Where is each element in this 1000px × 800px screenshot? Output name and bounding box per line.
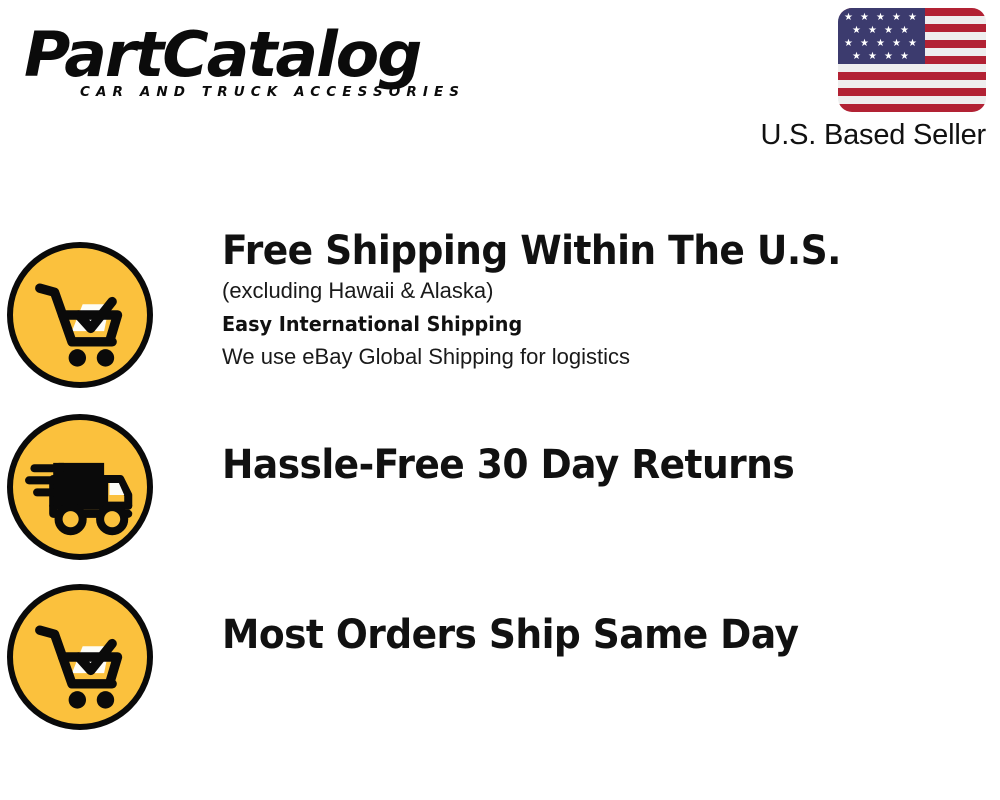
feature-secondary-title: Easy International Shipping xyxy=(222,308,969,340)
feature-icon-wrapper xyxy=(0,228,160,388)
us-based-seller-badge: ★ ★ ★ ★ ★ ★ ★ ★ ★ ★ ★ ★ ★ ★ ★ ★ ★ ★ U.S.… xyxy=(696,8,986,152)
feature-subtitle: (excluding Hawaii & Alaska) xyxy=(222,274,1000,308)
feature-row: Free Shipping Within The U.S. (excluding… xyxy=(0,228,1000,388)
feature-title: Free Shipping Within The U.S. xyxy=(222,228,953,274)
feature-secondary-subtitle: We use eBay Global Shipping for logistic… xyxy=(222,340,1000,374)
shopping-cart-check-icon xyxy=(7,584,153,730)
delivery-truck-icon xyxy=(7,414,153,560)
feature-title: Hassle-Free 30 Day Returns xyxy=(222,442,953,488)
feature-icon-wrapper xyxy=(0,570,160,730)
feature-title: Most Orders Ship Same Day xyxy=(222,612,953,658)
brand-logo[interactable]: PartCatalog CAR AND TRUCK ACCESSORIES xyxy=(24,22,494,100)
shopping-cart-check-icon xyxy=(7,242,153,388)
feature-text-block: Most Orders Ship Same Day xyxy=(160,570,1000,658)
flag-canton: ★ ★ ★ ★ ★ ★ ★ ★ ★ ★ ★ ★ ★ ★ ★ ★ ★ ★ xyxy=(838,8,925,64)
feature-text-block: Hassle-Free 30 Day Returns xyxy=(160,400,1000,488)
us-based-seller-label: U.S. Based Seller xyxy=(696,119,986,152)
feature-icon-wrapper xyxy=(0,400,160,560)
feature-text-block: Free Shipping Within The U.S. (excluding… xyxy=(160,228,1000,374)
feature-row: Most Orders Ship Same Day xyxy=(0,570,1000,730)
feature-row: Hassle-Free 30 Day Returns xyxy=(0,400,1000,560)
us-flag-icon: ★ ★ ★ ★ ★ ★ ★ ★ ★ ★ ★ ★ ★ ★ ★ ★ ★ ★ xyxy=(838,8,986,112)
brand-wordmark: PartCatalog xyxy=(24,22,503,88)
page-header: PartCatalog CAR AND TRUCK ACCESSORIES ★ … xyxy=(0,0,1000,170)
